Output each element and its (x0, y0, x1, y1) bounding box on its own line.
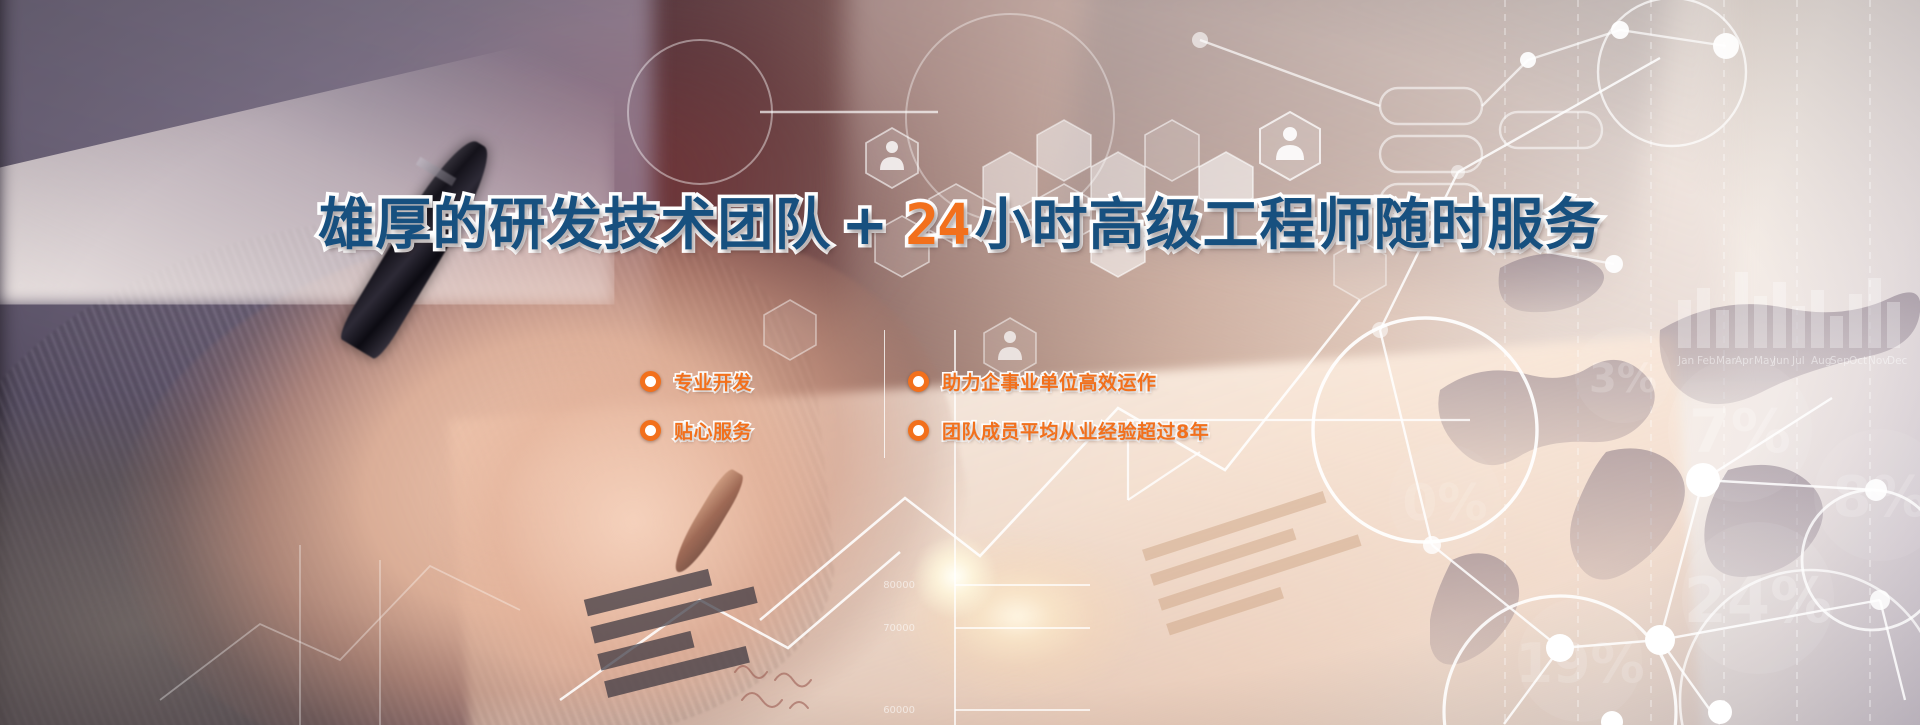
hero-banner: JanFeb MarApr MayJun JulAug SepOct NovDe… (0, 0, 1920, 725)
circle-ring-icon (640, 371, 661, 392)
feature-row: 专业开发 助力企事业单位高效运作 (640, 368, 1380, 395)
feature-label: 助力企事业单位高效运作 (942, 368, 1157, 395)
banner-content: 雄厚的研发技术团队+24小时高级工程师随时服务 专业开发 助力企事业单位高效运作… (0, 0, 1920, 725)
feature-row: 贴心服务 团队成员平均从业经验超过8年 (640, 417, 1380, 444)
feature-label: 团队成员平均从业经验超过8年 (942, 417, 1209, 444)
feature-item[interactable]: 贴心服务 (640, 417, 888, 444)
feature-label: 专业开发 (674, 368, 752, 395)
headline-number-24: 24 (899, 193, 974, 258)
feature-item[interactable]: 助力企事业单位高效运作 (888, 368, 1380, 395)
feature-list: 专业开发 助力企事业单位高效运作 贴心服务 团队成员平均从业经验超过8年 (640, 368, 1380, 444)
feature-item[interactable]: 团队成员平均从业经验超过8年 (888, 417, 1380, 444)
circle-ring-icon (640, 420, 661, 441)
headline-segment-2: 小时高级工程师随时服务 (975, 193, 1602, 258)
headline-plus-sign: + (831, 193, 899, 258)
headline: 雄厚的研发技术团队+24小时高级工程师随时服务 (0, 198, 1920, 254)
headline-segment-1: 雄厚的研发技术团队 (318, 193, 831, 258)
feature-label: 贴心服务 (674, 417, 752, 444)
feature-item[interactable]: 专业开发 (640, 368, 888, 395)
circle-ring-icon (908, 371, 929, 392)
circle-ring-icon (908, 420, 929, 441)
